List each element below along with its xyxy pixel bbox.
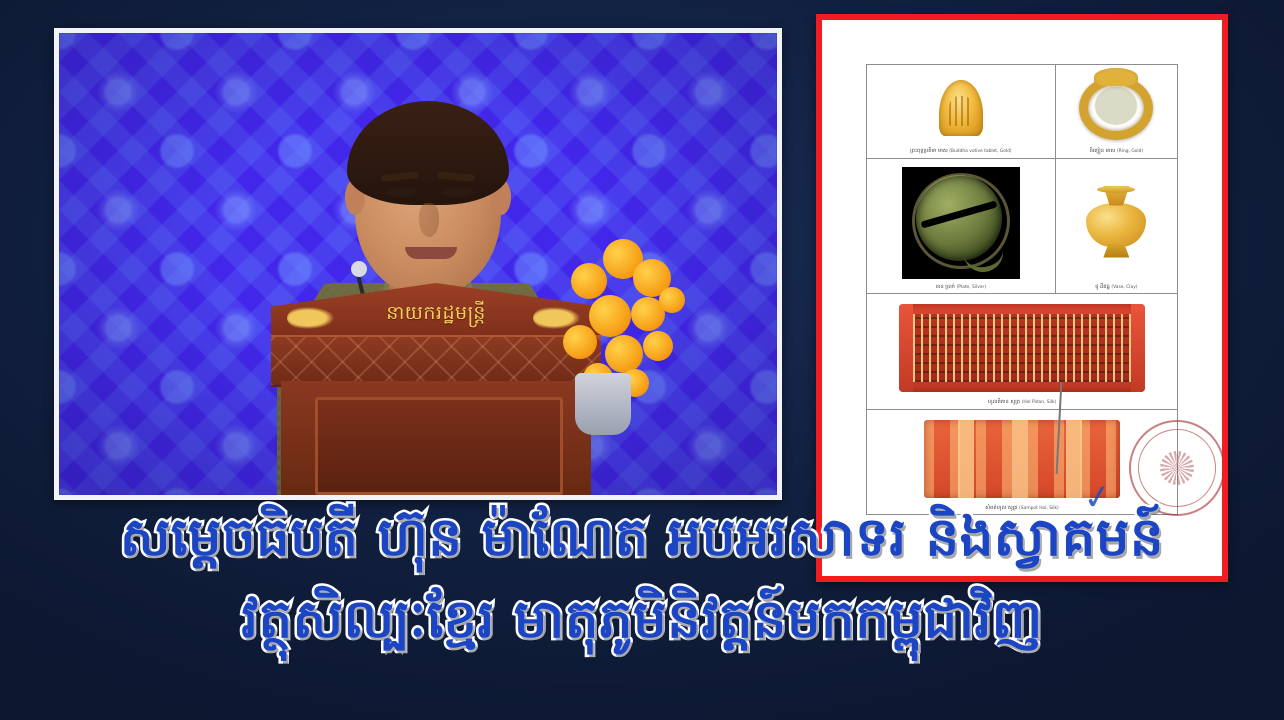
artifact-cell-hol-pidan: ហូលពិតាន សូត្រ (Hol Pidan, Silk)	[867, 294, 1178, 410]
artifact-cell-ring: ចិញ្ចៀន មាស (Ring, Gold)	[1055, 65, 1177, 159]
artifact-document-page: ព្រះពុទ្ធប្រតិមា មាស (Buddha votive tabl…	[822, 20, 1222, 576]
artifact-table: ព្រះពុទ្ធប្រតិមា មាស (Buddha votive tabl…	[866, 64, 1178, 515]
artifact-caption: ថូ ដីឥដ្ឋ (Vase, Clay)	[1059, 284, 1174, 291]
artifact-name-en: (Vase, Clay)	[1111, 285, 1137, 290]
artifact-name-km: ចិញ្ចៀន មាស	[1090, 148, 1116, 154]
buddha-tablet-icon	[870, 71, 1052, 145]
flower-vase	[575, 373, 631, 435]
microphone-icon	[351, 261, 367, 277]
poster-canvas: នាយករដ្ឋមន្ត្រី	[0, 0, 1284, 720]
headline-block: សម្តេចធិបតី ហ៊ុន ម៉ាណែត អបអរសាទរ និងស្វា…	[0, 508, 1284, 649]
table-row: ហូលពិតាន សូត្រ (Hol Pidan, Silk)	[867, 294, 1178, 410]
artifact-cell-buddha-tablet: ព្រះពុទ្ធប្រតិមា មាស (Buddha votive tabl…	[867, 65, 1056, 159]
headline-line-2: វត្ថុសិល្បៈខ្មែរ មាតុភូមិនិវត្តន៍មកកម្ពុ…	[0, 590, 1284, 650]
podium-label: នាយករដ្ឋមន្ត្រី	[271, 301, 601, 329]
artifact-caption: ហូលពិតាន សូត្រ (Hol Pidan, Silk)	[870, 399, 1174, 406]
silver-plate-icon	[870, 165, 1052, 281]
artifact-caption: ព្រះពុទ្ធប្រតិមា មាស (Buddha votive tabl…	[870, 148, 1052, 155]
artifact-name-km: ព្រះពុទ្ធប្រតិមា មាស	[910, 148, 948, 154]
table-row: ព្រះពុទ្ធប្រតិមា មាស (Buddha votive tabl…	[867, 65, 1178, 159]
artifact-caption: ចិញ្ចៀន មាស (Ring, Gold)	[1059, 148, 1174, 155]
podium-body	[281, 381, 591, 500]
speaker-nose	[419, 203, 439, 237]
speaker-eye-left	[385, 187, 417, 197]
artifact-name-en: (Buddha votive tablet, Gold)	[949, 149, 1011, 154]
hol-pidan-textile-icon	[870, 300, 1174, 396]
artifact-name-en: (Plate, Silver)	[957, 285, 987, 290]
speaker-eye-right	[441, 187, 473, 197]
artifact-document-frame: ព្រះពុទ្ធប្រតិមា មាស (Buddha votive tabl…	[816, 14, 1228, 582]
speaker-hair	[347, 101, 509, 205]
artifact-name-en: (Hol Pidan, Silk)	[1022, 400, 1057, 405]
speaker-photo-frame: នាយករដ្ឋមន្ត្រី	[54, 28, 782, 500]
gold-ring-icon	[1059, 71, 1174, 145]
podium-front-panel	[315, 397, 563, 495]
artifact-cell-clay-vase: ថូ ដីឥដ្ឋ (Vase, Clay)	[1055, 158, 1177, 294]
artifact-name-km: ហូលពិតាន សូត្រ	[988, 399, 1020, 405]
podium: នាយករដ្ឋមន្ត្រី	[271, 283, 601, 500]
speaker-mouth	[405, 247, 457, 259]
headline-line-1: សម្តេចធិបតី ហ៊ុន ម៉ាណែត អបអរសាទរ និងស្វា…	[0, 508, 1284, 568]
artifact-name-km: ថូ ដីឥដ្ឋ	[1095, 284, 1110, 290]
clay-vase-icon	[1059, 165, 1174, 281]
artifact-caption: ចាន ប្រាក់ (Plate, Silver)	[870, 284, 1052, 291]
artifact-name-en: (Ring, Gold)	[1117, 149, 1143, 154]
artifact-name-km: ចាន ប្រាក់	[936, 284, 955, 290]
podium-carved-band	[271, 335, 601, 387]
table-row: ចាន ប្រាក់ (Plate, Silver)	[867, 158, 1178, 294]
artifact-cell-silver-plate: ចាន ប្រាក់ (Plate, Silver)	[867, 158, 1056, 294]
